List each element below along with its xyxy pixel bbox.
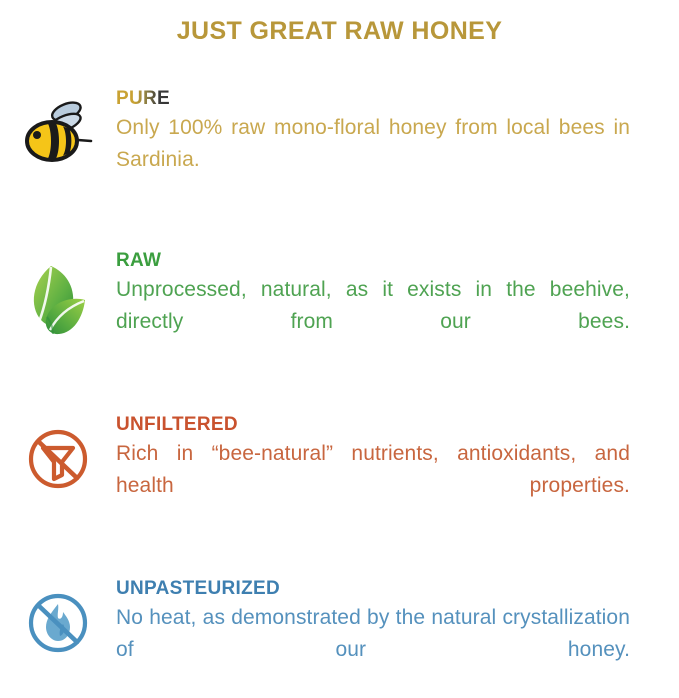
leaf-icon (0, 250, 116, 338)
feature-heading-unpasteurized: UNPASTEURIZED (116, 578, 630, 599)
no-filter-icon (0, 414, 116, 490)
no-heat-icon (0, 578, 116, 654)
feature-body-raw: Unprocessed, natural, as it exists in th… (116, 274, 630, 370)
honey-features-panel: JUST GREAT RAW HONEY (0, 0, 679, 679)
feature-list: PURE Only 100% raw mono-floral honey fro… (0, 88, 679, 698)
feature-heading-unfiltered: UNFILTERED (116, 414, 630, 435)
feature-item-pure: PURE Only 100% raw mono-floral honey fro… (0, 88, 679, 208)
feature-item-unpasteurized: UNPASTEURIZED No heat, as demonstrated b… (0, 578, 679, 698)
feature-text-pure: PURE Only 100% raw mono-floral honey fro… (116, 88, 679, 208)
bee-icon (0, 88, 116, 164)
feature-body-unfiltered: Rich in “bee-natural” nutrients, antioxi… (116, 438, 630, 534)
feature-body-unpasteurized: No heat, as demonstrated by the natural … (116, 602, 630, 698)
feature-item-raw: RAW Unprocessed, natural, as it exists i… (0, 250, 679, 370)
feature-body-pure: Only 100% raw mono-floral honey from loc… (116, 112, 630, 208)
page-title: JUST GREAT RAW HONEY (0, 17, 679, 46)
feature-text-unpasteurized: UNPASTEURIZED No heat, as demonstrated b… (116, 578, 679, 698)
feature-item-unfiltered: UNFILTERED Rich in “bee-natural” nutrien… (0, 414, 679, 534)
feature-heading-raw: RAW (116, 250, 630, 271)
feature-heading-pure: PURE (116, 88, 170, 109)
feature-text-unfiltered: UNFILTERED Rich in “bee-natural” nutrien… (116, 414, 679, 534)
feature-text-raw: RAW Unprocessed, natural, as it exists i… (116, 250, 679, 370)
